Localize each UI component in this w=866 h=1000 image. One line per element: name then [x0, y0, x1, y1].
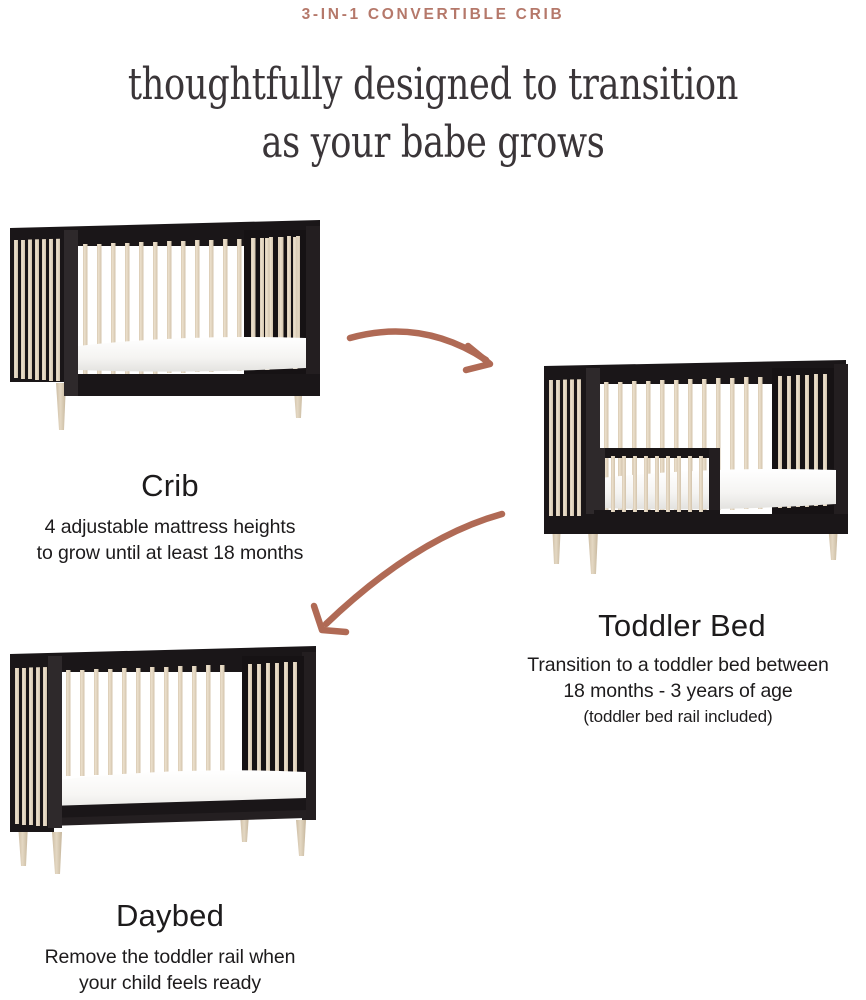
toddler-bed-caption-title: Toddler Bed: [498, 608, 866, 644]
crib-caption-title: Crib: [0, 468, 340, 504]
crib-caption-body: 4 adjustable mattress heights to grow un…: [0, 514, 340, 566]
headline-line-1: thoughtfully designed to transition: [128, 59, 738, 110]
toddler-body-line-2: 18 months - 3 years of age: [563, 680, 792, 702]
page-title: thoughtfully designed to transition as y…: [87, 56, 780, 172]
daybed-caption-title: Daybed: [0, 898, 340, 934]
toddler-bed-image: [516, 352, 866, 582]
toddler-body-note: (toddler bed rail included): [490, 704, 866, 729]
infographic-page: 3-IN-1 CONVERTIBLE CRIB thoughtfully des…: [0, 0, 866, 1000]
crib-body-line-1: 4 adjustable mattress heights: [45, 516, 296, 538]
toddler-body-line-1: Transition to a toddler bed between: [527, 654, 828, 676]
eyebrow-label: 3-IN-1 CONVERTIBLE CRIB: [0, 6, 866, 24]
daybed-body-line-1: Remove the toddler rail when: [45, 946, 296, 968]
daybed-caption-body: Remove the toddler rail when your child …: [0, 944, 340, 996]
daybed-image: [4, 628, 344, 878]
crib-image: [4, 208, 344, 443]
arrow-toddler-to-daybed-icon: [296, 502, 512, 648]
arrow-crib-to-toddler-icon: [344, 296, 524, 376]
toddler-front-bottom-rail: [544, 516, 848, 534]
toddler-safety-rail: [594, 448, 720, 524]
toddler-bed-caption-body: Transition to a toddler bed between 18 m…: [490, 652, 866, 729]
toddler-left-panel: [544, 372, 592, 530]
crib-left-panel-slats: [10, 234, 68, 382]
daybed-back-slats: [66, 665, 225, 776]
daybed-body-line-2: your child feels ready: [79, 972, 261, 994]
daybed-left-panel: [10, 660, 54, 832]
crib-body-line-2: to grow until at least 18 months: [37, 542, 304, 564]
headline-line-2: as your babe grows: [87, 114, 780, 172]
